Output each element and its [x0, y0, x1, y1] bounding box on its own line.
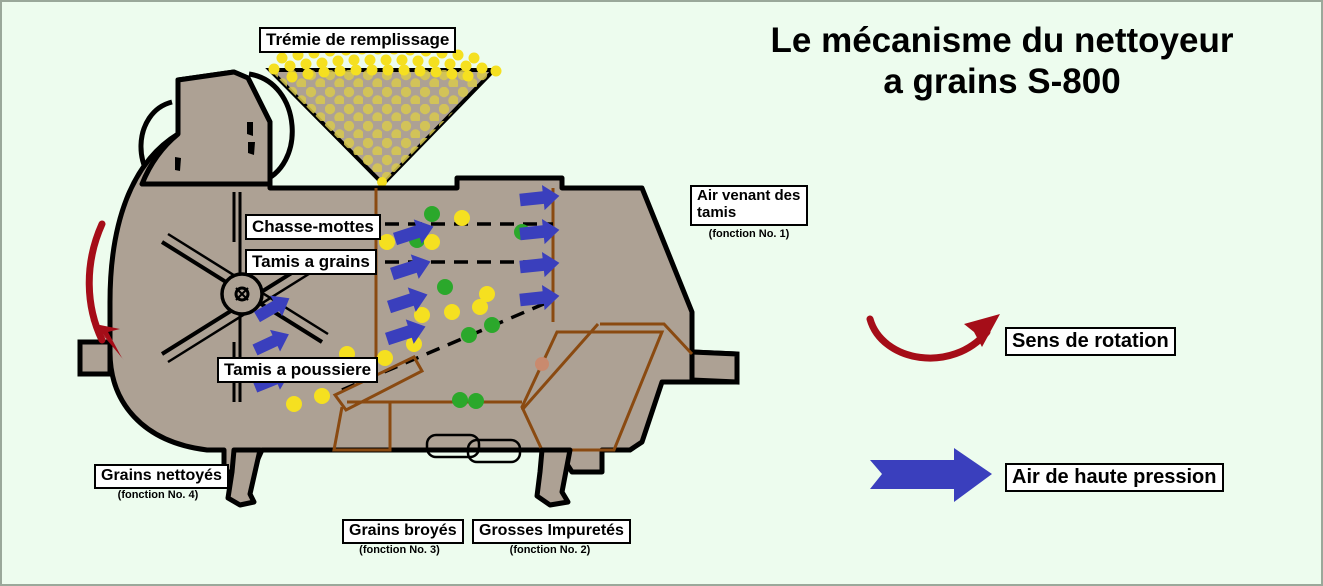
legend-label-air-haute-pression: Air de haute pression — [1005, 463, 1224, 492]
label-grains-nettoyes: Grains nettoyés — [94, 464, 229, 489]
air-outlet-lip — [692, 352, 737, 382]
legend-rotation-icon — [870, 314, 1000, 358]
page-title: Le mécanisme du nettoyeur a grains S-800 — [702, 20, 1302, 103]
label-grains-broyes-fonction: (fonction No. 3) — [342, 544, 457, 556]
hopper-grain-fill — [262, 62, 506, 192]
hopper-group — [262, 34, 506, 199]
leg-left — [228, 450, 260, 505]
impurity-particle — [535, 357, 549, 371]
label-chasse-mottes: Chasse-mottes — [245, 214, 381, 240]
label-grains-nettoyes-fonction: (fonction No. 4) — [94, 489, 222, 501]
clean-grain-outlet — [80, 342, 110, 374]
label-air-venant-des-tamis: Air venant des tamis — [690, 185, 808, 226]
label-air-venant-fonction: (fonction No. 1) — [690, 228, 808, 240]
label-hopper: Trémie de remplissage — [259, 27, 456, 53]
label-tamis-a-grains: Tamis a grains — [245, 249, 377, 275]
label-tamis-a-poussiere: Tamis a poussiere — [217, 357, 378, 383]
diagram-page: Le mécanisme du nettoyeur a grains S-800… — [0, 0, 1323, 586]
legend-label-sens-de-rotation: Sens de rotation — [1005, 327, 1176, 356]
label-grosses-impuretes: Grosses Impuretés — [472, 519, 631, 544]
leg-right — [537, 450, 570, 505]
legend-air-arrow-icon — [870, 448, 992, 502]
label-grosses-impuretes-fonction: (fonction No. 2) — [472, 544, 628, 556]
label-grains-broyes: Grains broyés — [342, 519, 464, 544]
